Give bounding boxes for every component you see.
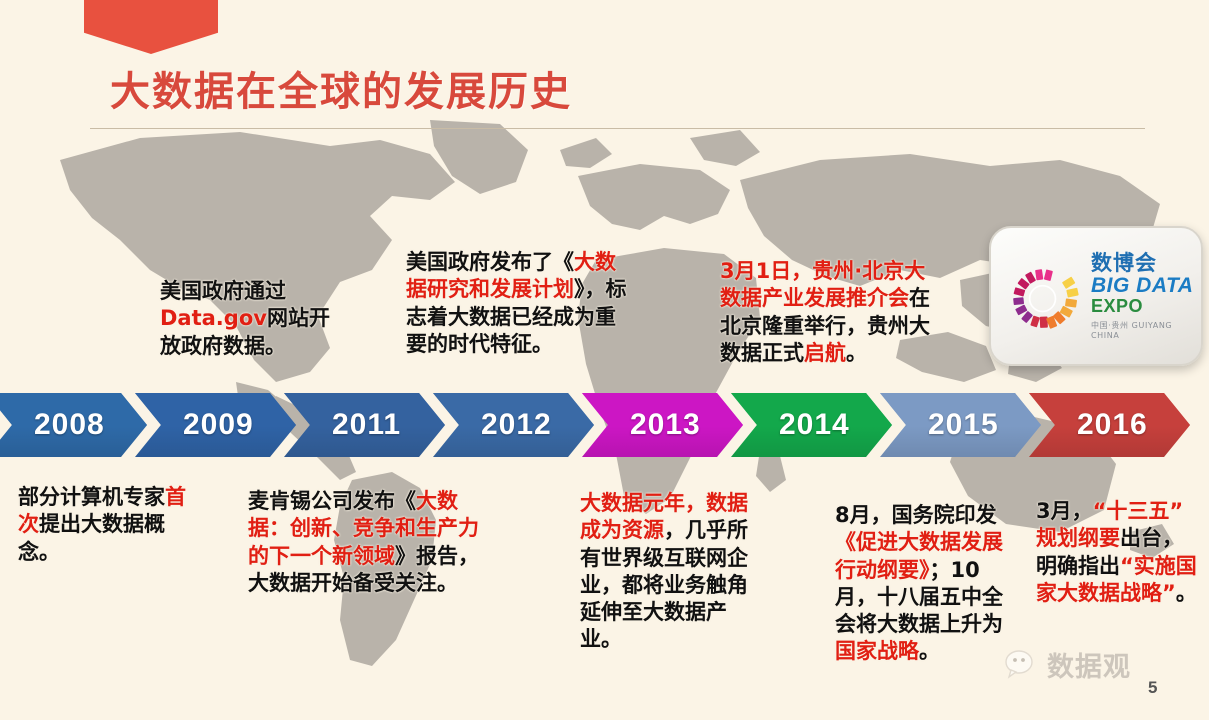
- expo-logo-line1: BIG DATA: [1091, 274, 1201, 297]
- timeline-chevron-2011[interactable]: 2011: [284, 393, 445, 457]
- note-above-2012: 美国政府发布了《大数据研究和发展计划》，标志着大数据已经成为重要的时代特征。: [406, 249, 628, 358]
- note-text: 8月，国务院印发: [835, 503, 997, 527]
- note-highlight-text: 3月1日，贵州·北京大数据产业发展推介会: [720, 259, 925, 310]
- timeline-year-label: 2015: [928, 408, 999, 442]
- decorative-pennant-banner: [84, 0, 218, 54]
- note-below-2011: 麦肯锡公司发布《大数据：创新、竞争和生产力的下一个新领域》报告，大数据开始备受关…: [248, 488, 484, 597]
- timeline-year-label: 2008: [34, 408, 105, 442]
- note-text: 。: [1176, 581, 1197, 605]
- timeline-chevron-2008[interactable]: 2008: [0, 393, 147, 457]
- page-title: 大数据在全球的发展历史: [110, 70, 1010, 114]
- expo-logo-subtitle: 中国·贵州 GUIYANG CHINA: [1091, 320, 1201, 340]
- expo-ring-logo-icon: [1003, 248, 1089, 344]
- timeline-year-label: 2016: [1077, 408, 1148, 442]
- note-below-2008: 部分计算机专家首次提出大数据概念。: [18, 484, 202, 566]
- note-highlight-text: 国家战略: [835, 639, 919, 663]
- timeline-strip: 20082009201120122013201420152016: [0, 393, 1209, 457]
- timeline-chevron-2009[interactable]: 2009: [135, 393, 296, 457]
- timeline-year-label: 2013: [630, 408, 701, 442]
- note-highlight-text: 启航: [804, 341, 846, 365]
- watermark: 数据观: [1005, 645, 1131, 684]
- timeline-year-label: 2012: [481, 408, 552, 442]
- watermark-label: 数据观: [1047, 645, 1131, 684]
- timeline-chevron-2014[interactable]: 2014: [731, 393, 892, 457]
- note-text: 麦肯锡公司发布《: [248, 489, 416, 513]
- note-above-2009: 美国政府通过Data.gov网站开放政府数据。: [160, 278, 338, 360]
- slide-root: 大数据在全球的发展历史: [0, 0, 1209, 720]
- timeline-chevron-2013[interactable]: 2013: [582, 393, 743, 457]
- title-divider-rule: [90, 128, 1145, 129]
- note-highlight-text: Data.gov: [160, 306, 267, 330]
- page-number: 5: [1148, 678, 1157, 698]
- note-text: 美国政府发布了《: [406, 250, 574, 274]
- note-above-2015: 3月1日，贵州·北京大数据产业发展推介会在北京隆重举行，贵州大数据正式启航。: [720, 258, 946, 367]
- timeline-chevron-2015[interactable]: 2015: [880, 393, 1041, 457]
- note-text: 。: [846, 341, 867, 365]
- wechat-icon: [1005, 650, 1041, 680]
- timeline-year-label: 2009: [183, 408, 254, 442]
- note-below-2015: 8月，国务院印发《促进大数据发展行动纲要》；10月，十八届五中全会将大数据上升为…: [835, 502, 1013, 666]
- note-text: 部分计算机专家: [18, 485, 165, 509]
- expo-logo-chinese-name: 数博会: [1091, 252, 1201, 274]
- page-title-wrap: 大数据在全球的发展历史: [110, 70, 1010, 114]
- note-text: 提出大数据概念。: [18, 512, 165, 563]
- timeline-chevron-2012[interactable]: 2012: [433, 393, 594, 457]
- timeline-chevron-2016[interactable]: 2016: [1029, 393, 1190, 457]
- note-below-2013: 大数据元年，数据成为资源，几乎所有世界级互联网企业，都将业务触角延伸至大数据产业…: [580, 490, 748, 654]
- big-data-expo-logo-card: 数博会 BIG DATA EXPO 中国·贵州 GUIYANG CHINA: [989, 226, 1203, 366]
- expo-logo-line2: EXPO: [1091, 297, 1201, 317]
- timeline-year-label: 2014: [779, 408, 850, 442]
- note-text: 。: [919, 639, 940, 663]
- timeline-year-label: 2011: [332, 408, 401, 442]
- note-text: 3月，: [1036, 499, 1093, 523]
- note-below-2016: 3月，“十三五”规划纲要出台，明确指出“实施国家大数据战略”。: [1036, 498, 1202, 607]
- note-text: 美国政府通过: [160, 279, 286, 303]
